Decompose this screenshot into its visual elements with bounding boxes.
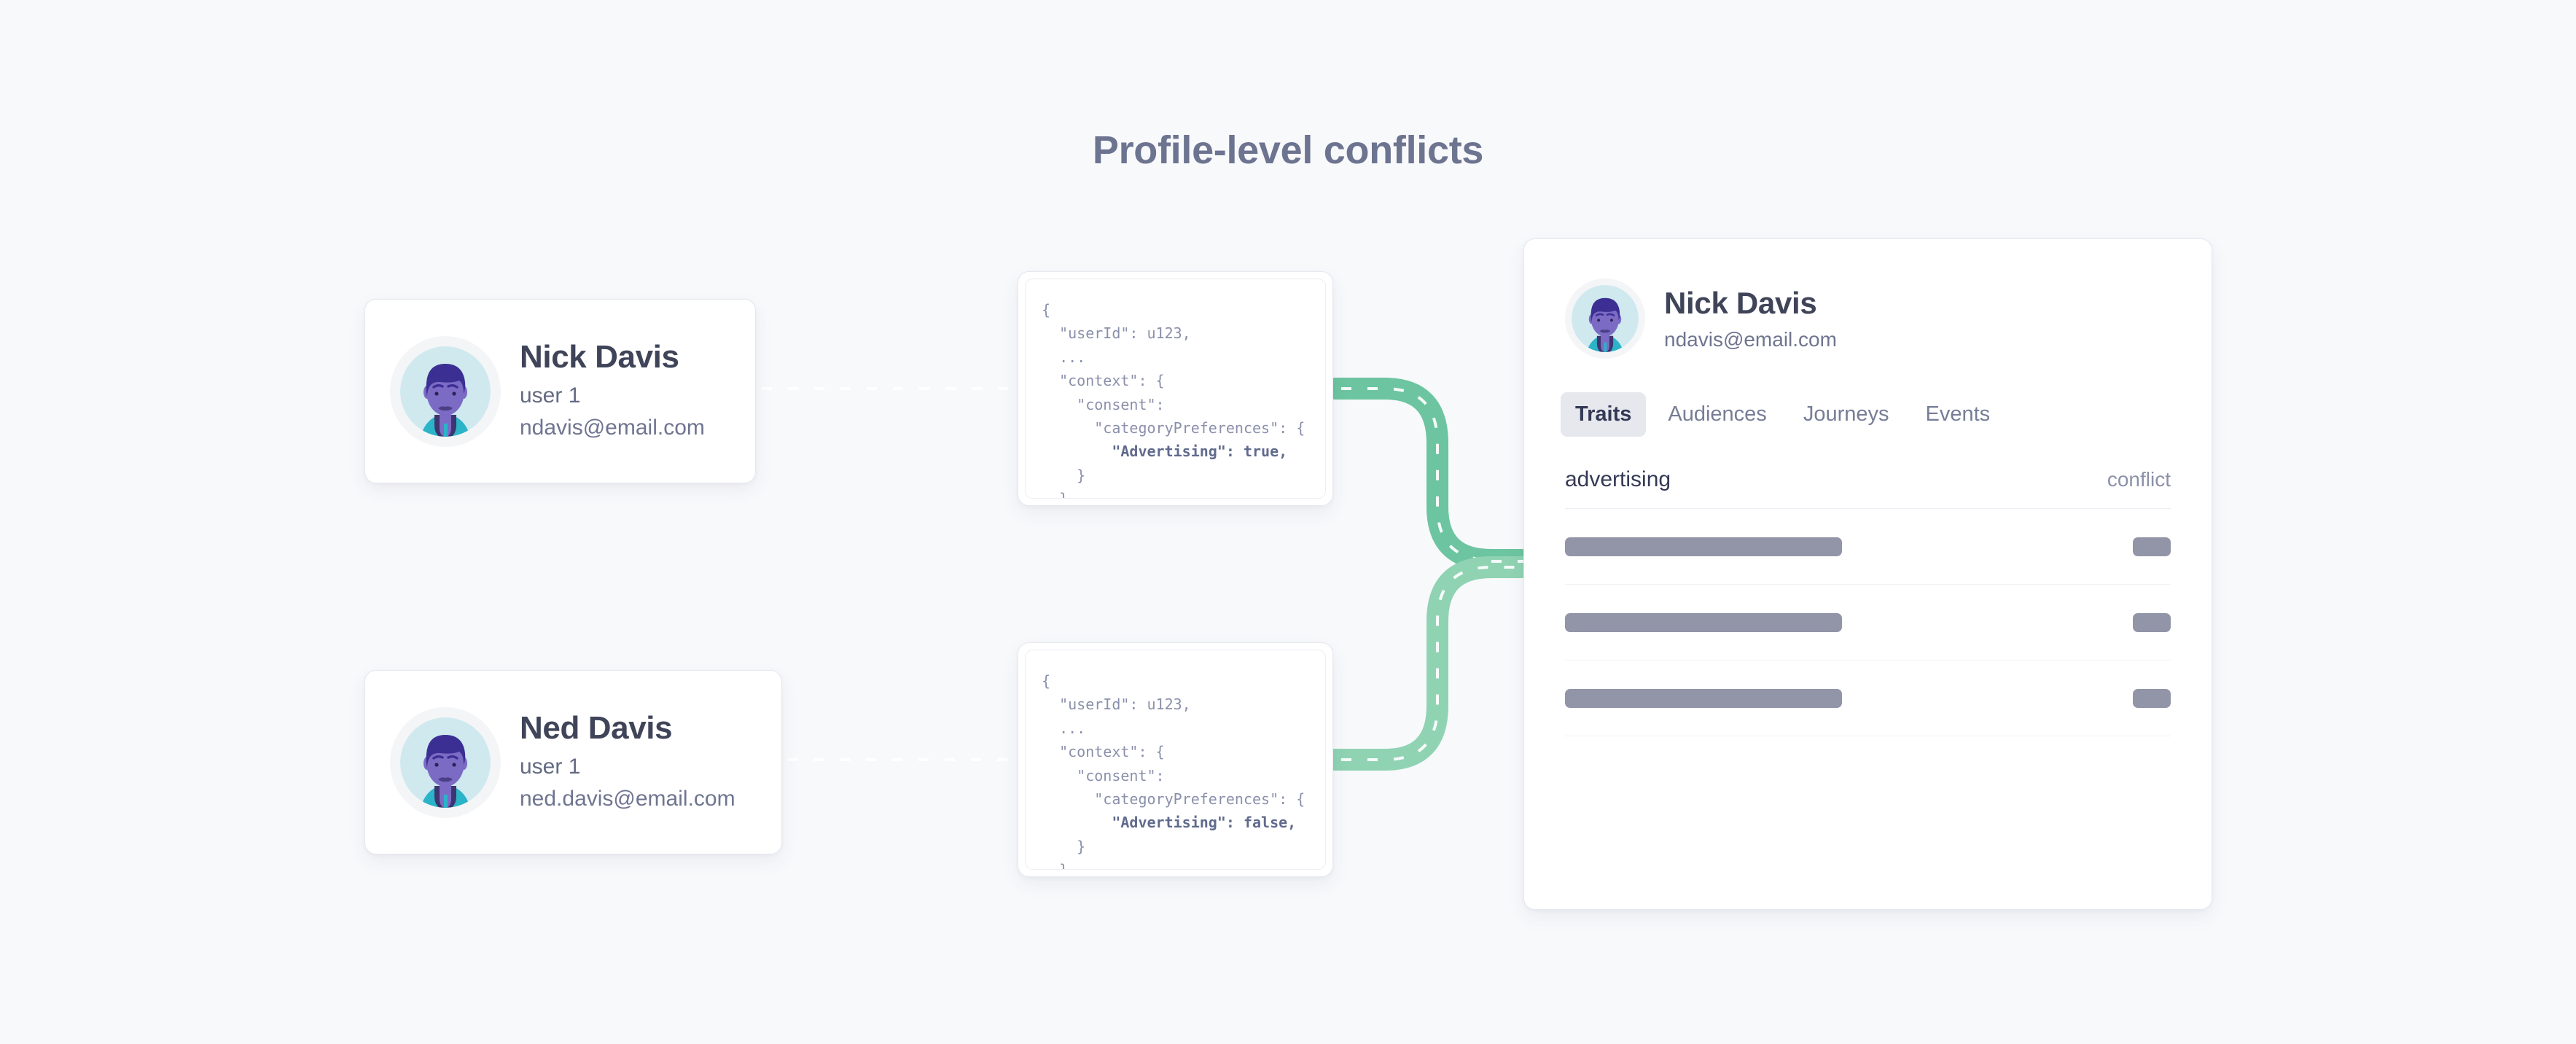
trait-key-placeholder bbox=[1565, 613, 1842, 632]
traits-table-header: advertising conflict bbox=[1565, 467, 2171, 509]
user-avatar-icon bbox=[400, 717, 491, 808]
trait-value-placeholder bbox=[2133, 689, 2171, 708]
source-card-nick-davis[interactable]: Nick Davis user 1 ndavis@email.com bbox=[364, 299, 756, 483]
source-email: ndavis@email.com bbox=[520, 413, 705, 443]
user-avatar-icon bbox=[400, 346, 491, 437]
profile-header: Nick Davis ndavis@email.com bbox=[1524, 239, 2212, 359]
tab-audiences[interactable]: Audiences bbox=[1653, 392, 1781, 437]
payload-card-advertising-false: { "userId": u123, ... "context": { "cons… bbox=[1018, 642, 1333, 877]
user-avatar-icon bbox=[1572, 285, 1639, 352]
table-row[interactable] bbox=[1565, 509, 2171, 585]
avatar bbox=[1565, 278, 1645, 359]
tab-traits[interactable]: Traits bbox=[1561, 392, 1646, 437]
profile-email: ndavis@email.com bbox=[1664, 328, 1837, 351]
trait-value-placeholder bbox=[2133, 537, 2171, 556]
profile-tabs: Traits Audiences Journeys Events bbox=[1561, 392, 2212, 437]
profile-name: Nick Davis bbox=[1664, 286, 1837, 321]
source-email: ned.davis@email.com bbox=[520, 784, 735, 814]
payload-code: { "userId": u123, ... "context": { "cons… bbox=[1042, 298, 1309, 499]
trait-key-placeholder bbox=[1565, 689, 1842, 708]
unified-profile-panel: Nick Davis ndavis@email.com Traits Audie… bbox=[1523, 238, 2212, 910]
tab-journeys[interactable]: Journeys bbox=[1789, 392, 1904, 437]
source-card-text: Ned Davis user 1 ned.davis@email.com bbox=[520, 710, 735, 814]
page-title: Profile-level conflicts bbox=[0, 128, 2576, 173]
avatar bbox=[390, 707, 501, 818]
source-name: Ned Davis bbox=[520, 710, 735, 746]
source-name: Nick Davis bbox=[520, 339, 705, 375]
column-header-trait: advertising bbox=[1565, 467, 1671, 492]
source-card-ned-davis[interactable]: Ned Davis user 1 ned.davis@email.com bbox=[364, 670, 782, 854]
payload-code: { "userId": u123, ... "context": { "cons… bbox=[1042, 669, 1309, 870]
table-row[interactable] bbox=[1565, 585, 2171, 661]
source-subtitle: user 1 bbox=[520, 381, 705, 411]
trait-value-placeholder bbox=[2133, 613, 2171, 632]
payload-code-frame: { "userId": u123, ... "context": { "cons… bbox=[1025, 650, 1326, 870]
avatar bbox=[390, 336, 501, 447]
trait-key-placeholder bbox=[1565, 537, 1842, 556]
connector-payload2-to-profile bbox=[1335, 567, 1522, 760]
tab-events[interactable]: Events bbox=[1910, 392, 2005, 437]
connector-payload1-to-profile bbox=[1335, 389, 1522, 560]
payload-card-advertising-true: { "userId": u123, ... "context": { "cons… bbox=[1018, 271, 1333, 506]
source-card-text: Nick Davis user 1 ndavis@email.com bbox=[520, 339, 705, 443]
profile-identity: Nick Davis ndavis@email.com bbox=[1664, 286, 1837, 351]
diagram-canvas: Profile-level conflicts bbox=[0, 0, 2576, 1044]
table-row[interactable] bbox=[1565, 661, 2171, 736]
payload-code-frame: { "userId": u123, ... "context": { "cons… bbox=[1025, 278, 1326, 499]
source-subtitle: user 1 bbox=[520, 752, 735, 782]
traits-table: advertising conflict bbox=[1565, 467, 2171, 736]
column-header-status: conflict bbox=[2107, 468, 2171, 491]
